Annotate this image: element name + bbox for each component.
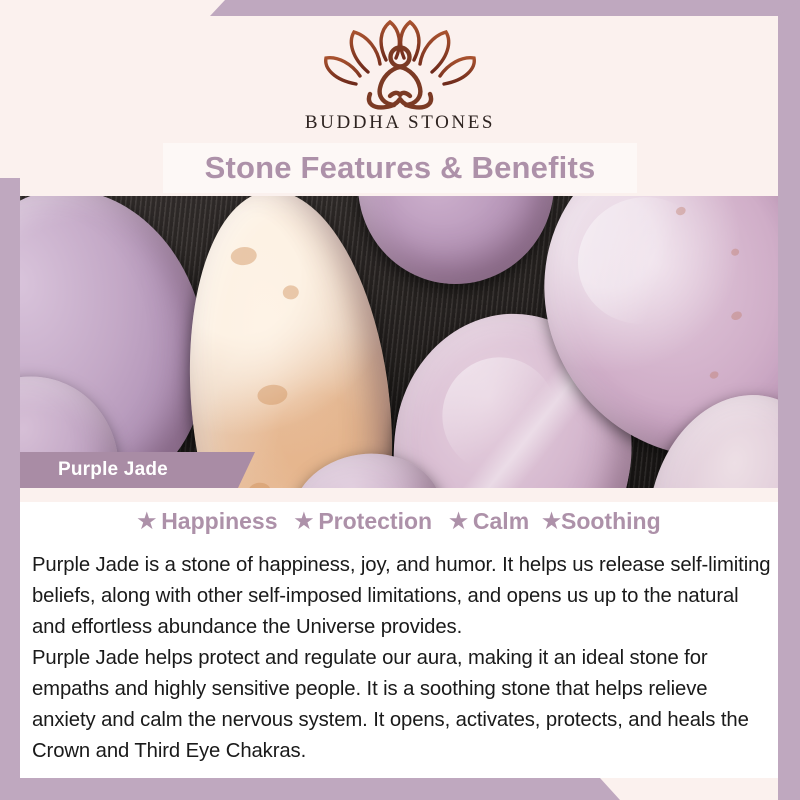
- stone-name-label: Purple Jade: [58, 459, 168, 481]
- keyword-item-happiness: ★ Happiness: [137, 508, 277, 535]
- star-icon: ★: [137, 511, 156, 532]
- content-section: ★ Happiness ★ Protection ★ Calm ★ Soothi…: [20, 488, 778, 778]
- keyword-label: Soothing: [561, 508, 661, 535]
- keyword-label: Calm: [473, 508, 529, 535]
- stone-info-poster: BUDDHA STONES Stone Features & Benefits: [0, 0, 800, 800]
- frame-border-bottom: [0, 778, 800, 800]
- description-paragraph-1: Purple Jade is a stone of happiness, joy…: [32, 550, 772, 643]
- page-title: Stone Features & Benefits: [205, 150, 596, 186]
- keyword-item-protection: ★ Protection: [295, 508, 433, 535]
- star-icon: ★: [542, 511, 561, 532]
- keyword-list: ★ Happiness ★ Protection ★ Calm ★ Soothi…: [20, 508, 778, 535]
- stone-photo: [0, 196, 800, 488]
- star-icon: ★: [449, 511, 468, 532]
- frame-border-left: [0, 178, 20, 800]
- star-icon: ★: [295, 511, 314, 532]
- stone-name-badge: Purple Jade: [20, 452, 255, 488]
- keyword-label: Protection: [318, 508, 432, 535]
- brand-name: BUDDHA STONES: [0, 112, 800, 134]
- keyword-label: Happiness: [161, 508, 277, 535]
- description-text: Purple Jade is a stone of happiness, joy…: [32, 550, 772, 767]
- description-paragraph-2: Purple Jade helps protect and regulate o…: [32, 643, 772, 767]
- lotus-meditation-figure-icon: [312, 18, 488, 110]
- content-top-divider: [20, 488, 778, 502]
- keyword-item-soothing: ★ Soothing: [542, 508, 660, 535]
- title-banner: Stone Features & Benefits: [163, 143, 637, 193]
- brand-logo: BUDDHA STONES: [0, 18, 800, 134]
- keyword-item-calm: ★ Calm: [449, 508, 529, 535]
- frame-border-right: [778, 0, 800, 800]
